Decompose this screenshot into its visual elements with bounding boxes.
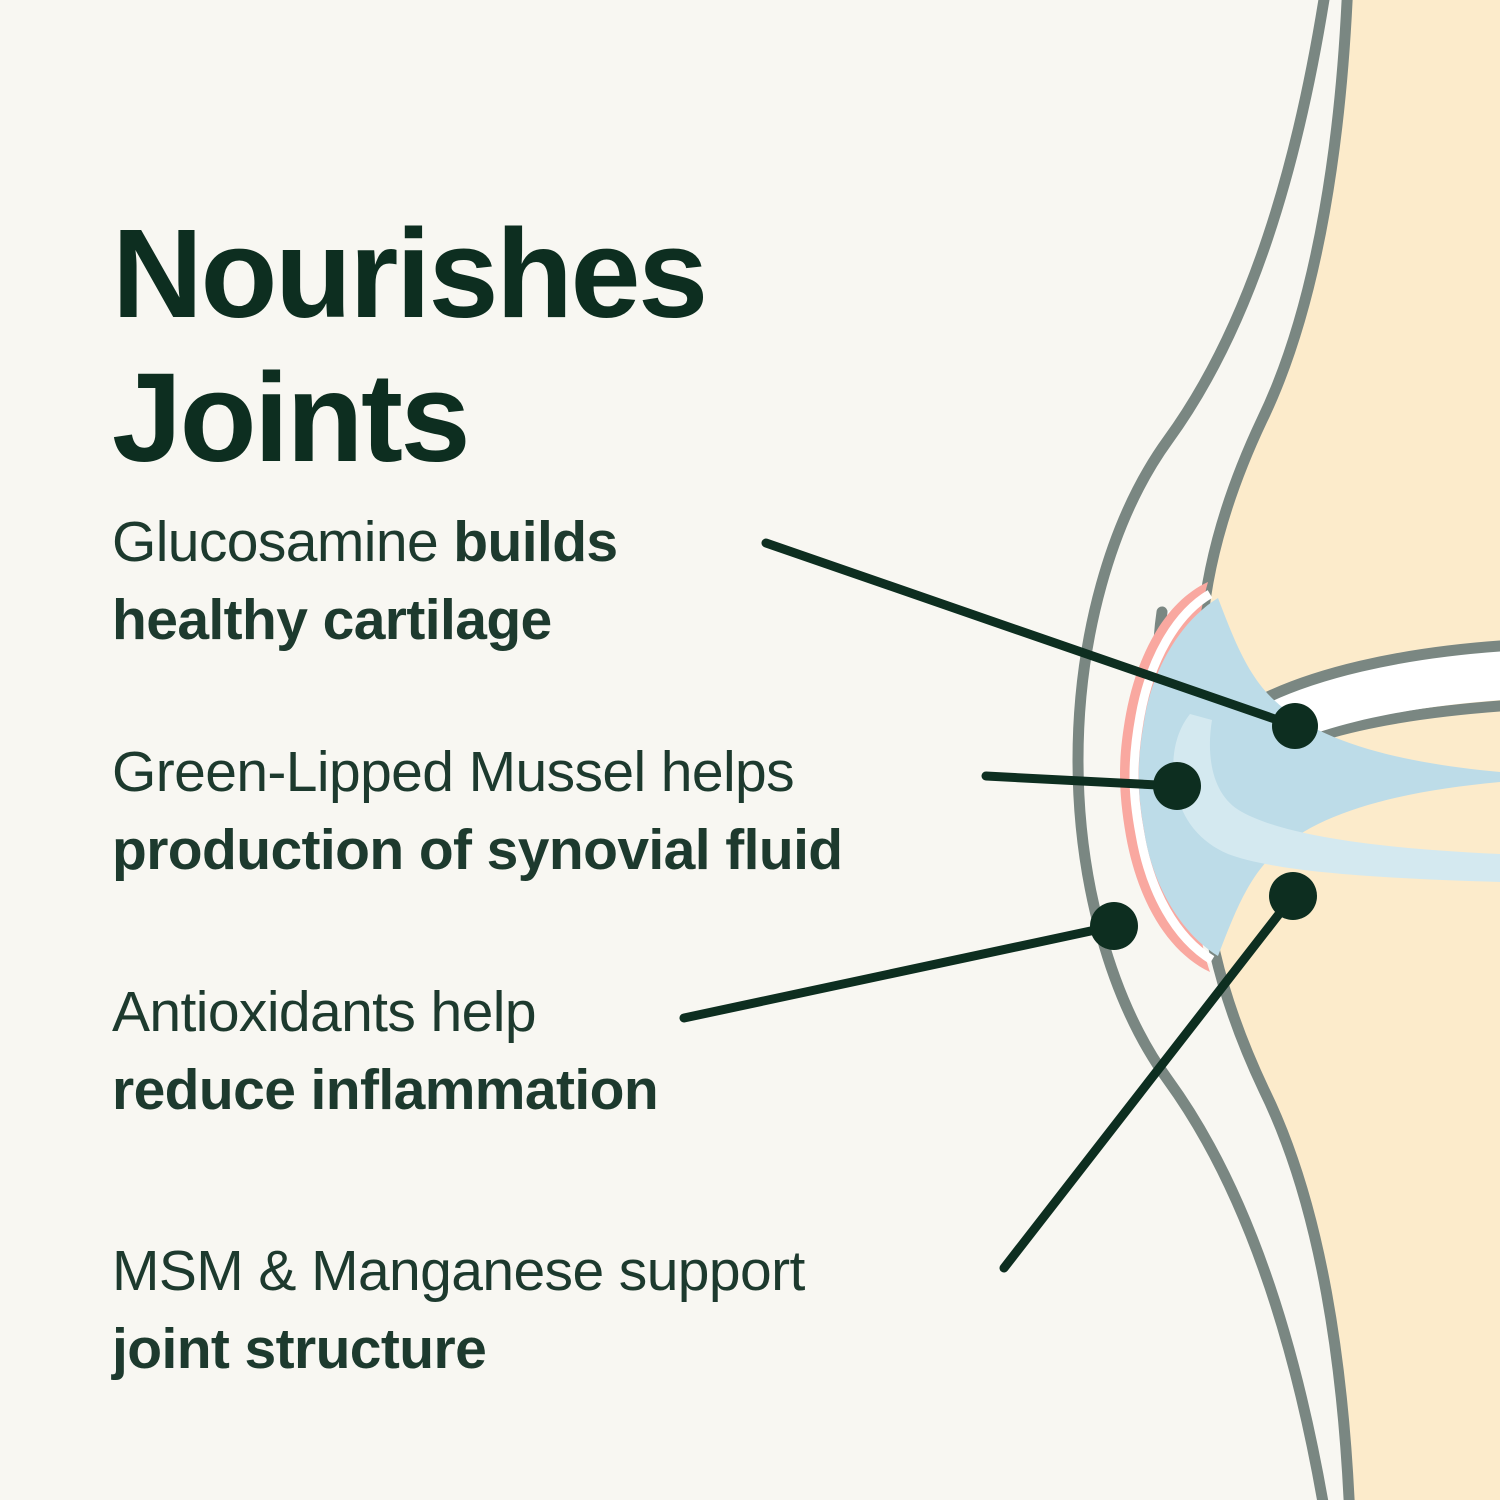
callout-msm-line-2: joint structure <box>112 1310 805 1388</box>
callout-glucosamine-line-2: healthy cartilage <box>112 581 618 659</box>
callout-glucosamine: Glucosamine builds healthy cartilage <box>112 503 618 659</box>
page-title-line-1: Nourishes <box>112 202 1012 346</box>
callout-mussel-line-2: production of synovial fluid <box>112 811 843 889</box>
callout-glucosamine-bold-1: builds <box>453 510 617 574</box>
callout-msm-manganese: MSM & Manganese support joint structure <box>112 1232 805 1388</box>
page-title: Nourishes Joints <box>112 202 1012 489</box>
callout-green-lipped-mussel: Green-Lipped Mussel helps production of … <box>112 733 843 889</box>
callout-glucosamine-line-1: Glucosamine builds <box>112 503 618 581</box>
infographic-page: Nourishes Joints Glucosamine builds heal… <box>0 0 1500 1500</box>
text-layer: Nourishes Joints Glucosamine builds heal… <box>0 0 1500 1500</box>
callout-antioxidants: Antioxidants help reduce inflammation <box>112 973 658 1129</box>
callout-mussel-line-1: Green-Lipped Mussel helps <box>112 733 843 811</box>
callout-antioxidants-line-2: reduce inflammation <box>112 1051 658 1129</box>
callout-msm-line-1: MSM & Manganese support <box>112 1232 805 1310</box>
page-title-line-2: Joints <box>112 346 1012 490</box>
callout-antioxidants-line-1: Antioxidants help <box>112 973 658 1051</box>
callout-glucosamine-regular: Glucosamine <box>112 510 453 574</box>
